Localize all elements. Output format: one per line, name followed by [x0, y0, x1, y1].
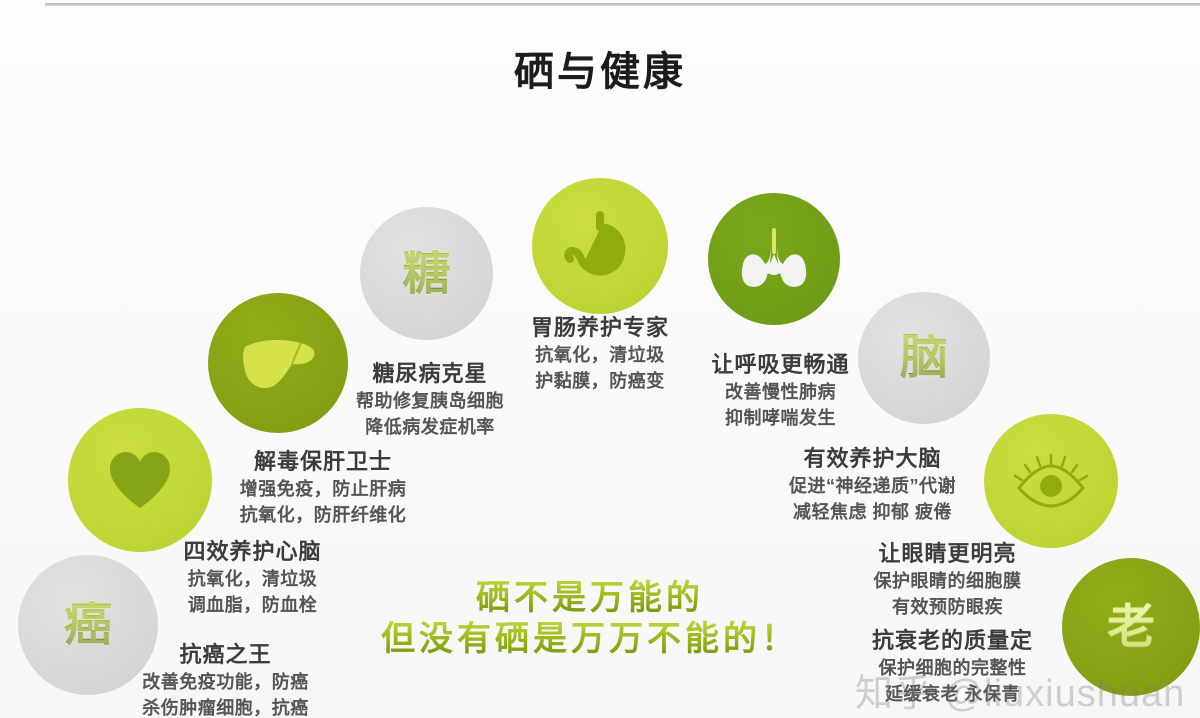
circle-heart[interactable] — [68, 408, 212, 552]
block-eye-line-1: 保护眼睛的细胞膜 — [845, 568, 1050, 594]
block-aging-line-2: 延缓衰老 永保青 — [845, 681, 1060, 707]
circle-lung[interactable] — [708, 193, 840, 325]
circle-sugar[interactable]: 糖 — [360, 207, 493, 340]
block-heart-heading: 四效养护心脑 — [150, 538, 355, 566]
center-slogan: 硒不是万能的 但没有硒是万万不能的！ — [355, 578, 825, 661]
block-brain-line-2: 减轻焦虑 抑郁 疲倦 — [760, 499, 985, 525]
block-heart-line-2: 调血脂，防血栓 — [150, 592, 355, 618]
block-heart: 四效养护心脑 抗氧化，清垃圾 调血脂，防血栓 — [150, 538, 355, 618]
block-liver-line-2: 抗氧化，防肝纤维化 — [218, 502, 428, 528]
stomach-icon — [564, 211, 636, 281]
block-sugar-line-1: 帮助修复胰岛细胞 — [330, 388, 530, 414]
block-stomach-line-2: 护黏膜，防癌变 — [505, 368, 695, 394]
block-stomach-line-1: 抗氧化，清垃圾 — [505, 342, 695, 368]
block-cancer: 抗癌之王 改善免疫功能，防癌 杀伤肿瘤细胞，抗癌 — [118, 641, 333, 718]
sugar-char: 糖 — [402, 250, 450, 298]
cancer-char: 癌 — [64, 601, 112, 649]
block-eye-heading: 让眼睛更明亮 — [845, 540, 1050, 568]
liver-icon — [239, 335, 317, 391]
block-sugar: 糖尿病克星 帮助修复胰岛细胞 降低病发症机率 — [330, 360, 530, 440]
circle-eye[interactable] — [984, 414, 1118, 548]
eye-icon — [1013, 454, 1089, 508]
block-liver-heading: 解毒保肝卫士 — [218, 448, 428, 476]
block-eye: 让眼睛更明亮 保护眼睛的细胞膜 有效预防眼疾 — [845, 540, 1050, 620]
block-liver-line-1: 增强免疫，防止肝病 — [218, 476, 428, 502]
circle-aging[interactable]: 老 — [1062, 558, 1200, 696]
circle-liver[interactable] — [208, 293, 348, 433]
block-aging: 抗衰老的质量定 保护细胞的完整性 延缓衰老 永保青 — [845, 627, 1060, 707]
block-brain: 有效养护大脑 促进“神经递质”代谢 减轻焦虑 抑郁 疲倦 — [760, 445, 985, 525]
block-lung-line-1: 改善慢性肺病 — [688, 379, 873, 405]
slogan-line-2: 但没有硒是万万不能的！ — [355, 619, 825, 660]
block-aging-heading: 抗衰老的质量定 — [845, 627, 1060, 655]
block-cancer-heading: 抗癌之王 — [118, 641, 333, 669]
block-stomach: 胃肠养护专家 抗氧化，清垃圾 护黏膜，防癌变 — [505, 314, 695, 394]
slogan-line-1: 硒不是万能的 — [355, 578, 825, 619]
block-cancer-line-1: 改善免疫功能，防癌 — [118, 669, 333, 695]
heart-icon — [107, 450, 173, 510]
block-lung-heading: 让呼吸更畅通 — [688, 351, 873, 379]
block-liver: 解毒保肝卫士 增强免疫，防止肝病 抗氧化，防肝纤维化 — [218, 448, 428, 528]
block-lung-line-2: 抑制哮喘发生 — [688, 405, 873, 431]
block-brain-heading: 有效养护大脑 — [760, 445, 985, 473]
block-sugar-line-2: 降低病发症机率 — [330, 414, 530, 440]
page-title: 硒与健康 — [0, 50, 1200, 94]
block-heart-line-1: 抗氧化，清垃圾 — [150, 566, 355, 592]
block-eye-line-2: 有效预防眼疾 — [845, 594, 1050, 620]
brain-char: 脑 — [900, 334, 948, 382]
circle-stomach[interactable] — [532, 178, 668, 314]
block-brain-line-1: 促进“神经递质”代谢 — [760, 473, 985, 499]
block-lung: 让呼吸更畅通 改善慢性肺病 抑制哮喘发生 — [688, 351, 873, 431]
block-cancer-line-2: 杀伤肿瘤细胞，抗癌 — [118, 695, 333, 718]
block-aging-line-1: 保护细胞的完整性 — [845, 655, 1060, 681]
block-sugar-heading: 糖尿病克星 — [330, 360, 530, 388]
top-divider — [45, 3, 1200, 6]
aging-char: 老 — [1107, 603, 1155, 651]
infographic-canvas: 硒与健康 癌 糖 脑 — [0, 0, 1200, 718]
block-stomach-heading: 胃肠养护专家 — [505, 314, 695, 342]
circle-brain[interactable]: 脑 — [858, 292, 990, 424]
lungs-icon — [738, 226, 810, 292]
